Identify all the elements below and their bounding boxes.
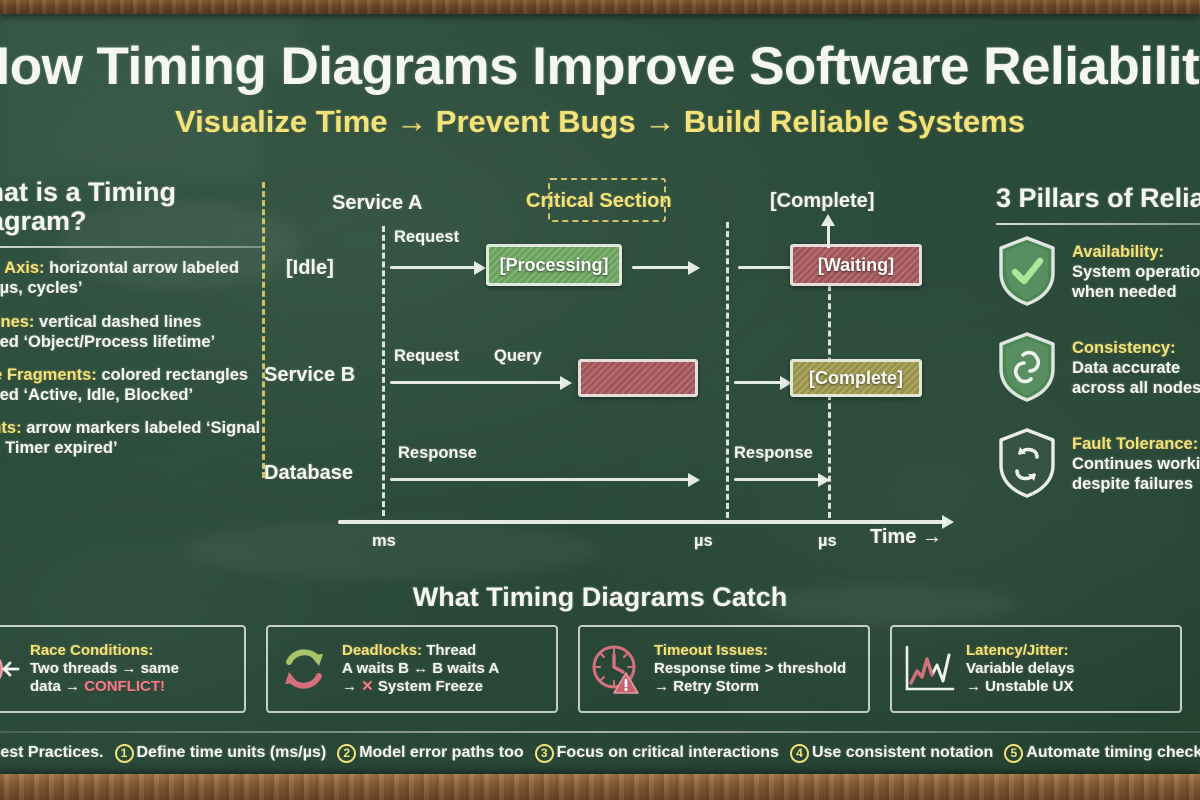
message-arrow-head [688, 261, 700, 275]
axis-label-time: Time → [870, 526, 942, 549]
page-subtitle: Visualize Time → Prevent Bugs → Build Re… [100, 104, 1100, 140]
divider [0, 731, 1200, 733]
definition-item: Lifelines: vertical dashed lines labeled… [0, 312, 262, 352]
catch-card-timeout-issues[interactable]: Timeout Issues: Response time > threshol… [578, 625, 870, 713]
card-line2-post: System Freeze [374, 678, 483, 695]
jitter-chart-icon [899, 641, 957, 697]
card-line2-emphasis: ✕ [361, 678, 374, 695]
shield-link-icon [996, 331, 1058, 403]
catch-card-race-conditions[interactable]: Race Conditions: Two threads → same data… [0, 625, 246, 713]
divider [0, 246, 262, 248]
chalkboard: How Timing Diagrams Improve Software Rel… [0, 0, 1200, 800]
card-line2-emphasis: CONFLICT! [84, 678, 165, 695]
footer-number: 4 [790, 744, 809, 763]
state-box-blocked [578, 359, 698, 397]
definition-item: Time Axis: horizontal arrow labeled ‘ms,… [0, 258, 262, 298]
card-text: Race Conditions: Two threads → same data… [30, 642, 179, 697]
footer-item-1: 1 Define time units (ms/µs) [115, 744, 327, 763]
message-label-request-a: Request [394, 228, 459, 247]
footer-number: 1 [115, 744, 134, 763]
footer-lead: Best Practices. [0, 744, 104, 762]
bug-icon [0, 643, 20, 695]
card-title: Timeout Issues: [654, 642, 768, 659]
card-line1: Response time > threshold [654, 660, 846, 677]
axis-tick-us-1: µs [694, 532, 713, 551]
right-column-heading: 3 Pillars of Reliability [996, 184, 1200, 217]
state-box-complete: [Complete] [790, 359, 922, 397]
card-line1: Two threads → same [30, 660, 179, 677]
card-text: Deadlocks: Thread A waits B ↔ B waits A … [342, 642, 499, 697]
lane-label-service-a: Service A [332, 192, 422, 215]
bug-icon-wrap [0, 638, 21, 700]
card-line1: A waits B ↔ B waits A [342, 660, 499, 677]
card-text: Latency/Jitter: Variable delays → Unstab… [966, 642, 1074, 697]
catch-card-deadlocks[interactable]: Deadlocks: Thread A waits B ↔ B waits A … [266, 625, 558, 713]
card-title-tail: Thread [422, 642, 476, 659]
axis-tick-us-2: µs [818, 532, 837, 551]
card-line2-pre: data → [30, 678, 84, 695]
definition-key: State Fragments: [0, 366, 97, 384]
state-box-waiting: [Waiting] [790, 244, 922, 286]
state-label-idle: [Idle] [286, 257, 334, 280]
card-title: Race Conditions: [30, 642, 153, 659]
definition-body: arrow markers labeled ‘Signal sent, Time… [0, 419, 260, 457]
message-label-request-b: Request [394, 347, 459, 366]
right-column: 3 Pillars of Reliability Availability: S… [996, 184, 1200, 523]
event-marker-head [821, 214, 835, 226]
card-line2-pre: → Unstable UX [966, 678, 1074, 695]
message-arrow [390, 381, 562, 384]
message-arrow-head [474, 261, 486, 275]
cycle-arrows-icon [277, 642, 331, 696]
lifeline-critical-end [726, 222, 729, 518]
lane-label-service-b: Service B [264, 364, 355, 387]
footer-item-4: 4 Use consistent notation [790, 744, 993, 763]
pillar-text: Availability: System operational when ne… [1072, 235, 1200, 302]
pillar-fault-tolerance: Fault Tolerance: Continues working despi… [996, 427, 1200, 499]
pillar-title: Availability: [1072, 243, 1164, 261]
definition-key: Time Axis: [0, 259, 45, 277]
footer-item-text: Focus on critical interactions [557, 744, 779, 762]
footer-best-practices: Best Practices. 1 Define time units (ms/… [0, 738, 1200, 768]
divider [996, 223, 1200, 225]
footer-item-text: Define time units (ms/µs) [137, 744, 327, 762]
lifeline-critical-start [262, 182, 962, 478]
left-column-heading: What is a Timing Diagram? [0, 178, 262, 240]
footer-item-5: 5 Automate timing checks [1004, 744, 1200, 763]
message-arrow-head [688, 473, 700, 487]
cycle-arrows-icon-wrap [275, 638, 333, 700]
time-axis-head [942, 515, 954, 529]
footer-item-text: Use consistent notation [812, 744, 993, 762]
time-axis [338, 520, 946, 524]
pillar-line2: when needed [1072, 283, 1177, 301]
pillar-title: Consistency: [1072, 339, 1176, 357]
message-arrow-head [818, 473, 830, 487]
pillar-consistency: Consistency: Data accurate across all no… [996, 331, 1200, 403]
pillar-line2: despite failures [1072, 475, 1193, 493]
message-label-response-1: Response [398, 444, 477, 463]
event-marker-line [827, 224, 830, 248]
pillar-title: Fault Tolerance: [1072, 435, 1198, 453]
pillar-line1: Data accurate [1072, 359, 1180, 377]
message-arrow [734, 381, 782, 384]
definition-key: Events: [0, 419, 22, 437]
critical-section-label: Critical Section [526, 190, 672, 213]
footer-item-3: 3 Focus on critical interactions [535, 744, 779, 763]
lifeline-service-a [382, 226, 385, 516]
footer-number: 3 [535, 744, 554, 763]
pillar-text: Fault Tolerance: Continues working despi… [1072, 427, 1200, 494]
pillar-line2: across all nodes [1072, 379, 1200, 397]
definition-item: State Fragments: colored rectangles labe… [0, 365, 262, 405]
catch-section-heading: What Timing Diagrams Catch [0, 582, 1200, 613]
pillar-text: Consistency: Data accurate across all no… [1072, 331, 1200, 398]
card-line2-pre: → Retry Storm [654, 678, 759, 695]
shield-recovery-icon [996, 427, 1058, 499]
clock-warning-icon [588, 641, 644, 697]
clock-warning-icon-wrap [587, 638, 645, 700]
lane-label-database: Database [264, 462, 353, 485]
card-line1: Variable delays [966, 660, 1074, 677]
footer-item-2: 2 Model error paths too [337, 744, 523, 763]
message-arrow-head [560, 376, 572, 390]
card-title: Latency/Jitter: [966, 642, 1069, 659]
page-title: How Timing Diagrams Improve Software Rel… [0, 36, 1200, 97]
message-arrow [632, 266, 690, 269]
pillar-line1: Continues working [1072, 455, 1200, 473]
catch-card-latency-jitter[interactable]: Latency/Jitter: Variable delays → Unstab… [890, 625, 1182, 713]
message-arrow [390, 478, 690, 481]
message-label-query: Query [494, 347, 542, 366]
complete-marker-label: [Complete] [770, 190, 874, 213]
card-line2-pre: → [342, 678, 361, 695]
shield-check-icon [996, 235, 1058, 307]
card-title: Deadlocks: [342, 642, 422, 659]
message-arrow [734, 478, 822, 481]
definition-item: Events: arrow markers labeled ‘Signal se… [0, 418, 262, 458]
axis-tick-ms: ms [372, 532, 396, 551]
message-label-response-2: Response [734, 444, 813, 463]
definition-key: Lifelines: [0, 313, 34, 331]
board-frame-top [0, 0, 1200, 14]
jitter-chart-icon-wrap [899, 638, 957, 700]
left-column: What is a Timing Diagram? Time Axis: hor… [0, 178, 262, 471]
footer-number: 5 [1004, 744, 1023, 763]
pillar-availability: Availability: System operational when ne… [996, 235, 1200, 307]
state-box-processing: [Processing] [486, 244, 622, 286]
card-text: Timeout Issues: Response time > threshol… [654, 642, 846, 697]
footer-item-text: Model error paths too [359, 744, 523, 762]
footer-item-text: Automate timing checks [1026, 744, 1200, 762]
message-arrow [390, 266, 476, 269]
catch-cards: Race Conditions: Two threads → same data… [0, 625, 1200, 713]
pillar-line1: System operational [1072, 263, 1200, 281]
footer-number: 2 [337, 744, 356, 763]
timing-diagram: Service A Service B Database [Idle] Crit… [262, 182, 962, 562]
board-frame-bottom [0, 774, 1200, 800]
